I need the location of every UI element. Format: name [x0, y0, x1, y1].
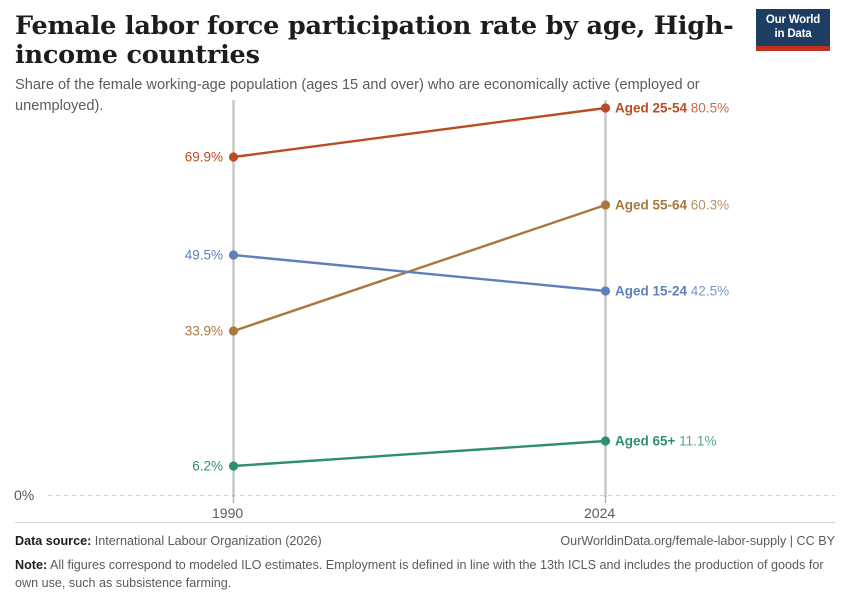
owid-logo-line2: in Data	[775, 28, 812, 42]
value-label-aged-65-plus-2024: 11.1%	[679, 433, 716, 448]
series-line-aged-15-24	[234, 255, 606, 291]
value-label-aged-55-64-1990: 33.9%	[185, 324, 223, 338]
series-label-aged-55-64[interactable]: Aged 55-64 60.3%	[615, 198, 729, 212]
value-label-aged-15-24-2024: 42.5%	[691, 283, 729, 298]
note-label: Note:	[15, 558, 47, 572]
series-point-aged-55-64-1990[interactable]	[229, 326, 238, 335]
footer-source-row: Data source: International Labour Organi…	[15, 532, 835, 550]
value-label-aged-15-24-1990: 49.5%	[185, 248, 223, 262]
series-point-aged-25-54-1990[interactable]	[229, 152, 238, 161]
chart-footer: Data source: International Labour Organi…	[15, 522, 835, 592]
owid-logo[interactable]: Our World in Data	[756, 9, 830, 51]
series-aged-15-24[interactable]	[229, 250, 610, 295]
series-point-aged-65-plus-2024[interactable]	[601, 436, 610, 445]
x-tick-label-2024: 2024	[584, 505, 615, 521]
series-point-aged-55-64-2024[interactable]	[601, 200, 610, 209]
series-aged-55-64[interactable]	[229, 200, 610, 335]
series-point-aged-15-24-2024[interactable]	[601, 286, 610, 295]
chart-container: Female labor force participation rate by…	[0, 0, 850, 600]
series-name-aged-15-24: Aged 15-24	[615, 283, 687, 298]
chart-header: Female labor force participation rate by…	[15, 0, 835, 117]
series-aged-65-plus[interactable]	[229, 436, 610, 470]
owid-link[interactable]: OurWorldinData.org/female-labor-supply |…	[560, 532, 835, 550]
series-label-aged-65-plus[interactable]: Aged 65+ 11.1%	[615, 434, 716, 448]
data-source-label: Data source:	[15, 534, 91, 548]
note-value: All figures correspond to modeled ILO es…	[15, 558, 824, 590]
value-label-aged-65-plus-1990: 6.2%	[192, 459, 223, 473]
data-source: Data source: International Labour Organi…	[15, 532, 322, 550]
data-source-value: International Labour Organization (2026)	[95, 534, 322, 548]
page-title: Female labor force participation rate by…	[15, 12, 750, 69]
owid-logo-line1: Our World	[766, 14, 820, 28]
value-label-aged-25-54-1990: 69.9%	[185, 150, 223, 164]
series-point-aged-65-plus-1990[interactable]	[229, 461, 238, 470]
series-point-aged-15-24-1990[interactable]	[229, 250, 238, 259]
series-name-aged-55-64: Aged 55-64	[615, 197, 687, 212]
series-line-aged-55-64	[234, 205, 606, 331]
footer-note: Note: All figures correspond to modeled …	[15, 556, 835, 593]
chart-subtitle: Share of the female working-age populati…	[15, 75, 715, 116]
value-label-aged-55-64-2024: 60.3%	[691, 197, 729, 212]
x-tick-label-1990: 1990	[212, 505, 243, 521]
series-label-aged-15-24[interactable]: Aged 15-24 42.5%	[615, 284, 729, 298]
series-name-aged-65-plus: Aged 65+	[615, 433, 675, 448]
y-tick-label-zero: 0%	[14, 487, 34, 503]
series-line-aged-65-plus	[234, 441, 606, 466]
